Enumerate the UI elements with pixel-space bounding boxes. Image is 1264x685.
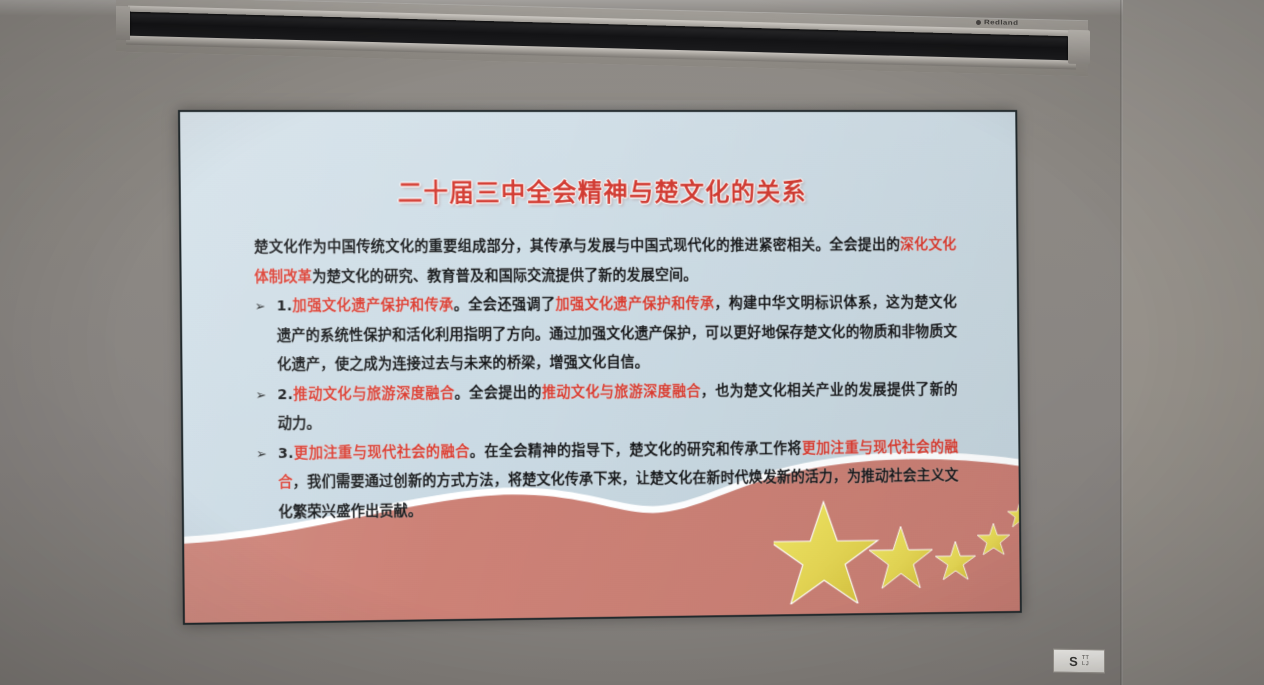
chevron-bullet-icon: ➢: [255, 293, 266, 322]
housing-left-bracket: [116, 6, 130, 40]
sticker-code-line2: LJ: [1082, 660, 1089, 667]
bullet-item-3: ➢3.更加注重与现代社会的融合。在全会精神的指导下，楚文化的研究和传承工作将更加…: [256, 433, 959, 528]
item-2-heading: 推动文化与旅游深度融合: [293, 385, 455, 402]
intro-text-part1: 楚文化作为中国传统文化的重要组成部分，其传承与发展与中国式现代化的推进紧密相关。…: [254, 237, 900, 255]
item-2-body-part1: 。全会提出的: [454, 385, 541, 402]
housing-right-bracket: [1068, 30, 1090, 65]
projector-screen-housing: Redland: [116, 2, 1088, 72]
item-3-body-part1: 。在全会精神的指导下，楚文化的研究和传承工作将: [470, 441, 802, 460]
item-3-heading: 更加注重与现代社会的融合: [294, 444, 470, 462]
star-small-2: [977, 523, 1010, 555]
wall-right-panel: [1123, 0, 1264, 685]
wall-seam-line: [1120, 0, 1123, 685]
wall-label-sticker: S TT LJ: [1053, 649, 1105, 674]
item-2-number: 2.: [277, 387, 293, 403]
bullet-item-1: ➢1.加强文化遗产保护和传承。全会还强调了加强文化遗产保护和传承，构建中华文明标…: [255, 289, 958, 381]
slide-title: 二十届三中全会精神与楚文化的关系: [181, 172, 1017, 209]
brand-dot-icon: [976, 20, 981, 25]
sticker-code: TT LJ: [1082, 655, 1089, 668]
item-1-body-part1: 。全会还强调了: [454, 297, 556, 313]
intro-paragraph: 楚文化作为中国传统文化的重要组成部分，其传承与发展与中国式现代化的推进紧密相关。…: [254, 231, 957, 292]
chevron-bullet-icon: ➢: [256, 440, 267, 470]
item-1-body-highlight: 加强文化遗产保护和传承: [555, 296, 714, 313]
presentation-slide: 二十届三中全会精神与楚文化的关系 楚文化作为中国传统文化的重要组成部分，其传承与…: [178, 110, 1022, 625]
slide-body-content: 楚文化作为中国传统文化的重要组成部分，其传承与发展与中国式现代化的推进紧密相关。…: [254, 231, 959, 528]
sticker-glyph: S: [1069, 654, 1078, 667]
item-1-heading: 加强文化遗产保护和传承: [292, 298, 454, 315]
item-2-body-highlight: 推动文化与旅游深度融合: [542, 383, 701, 400]
item-3-body-part2: ，我们需要通过创新的方式方法，将楚文化传承下来，让楚文化在新时代焕发新的活力，为…: [278, 468, 958, 520]
chevron-bullet-icon: ➢: [255, 381, 266, 411]
item-1-number: 1.: [276, 298, 292, 314]
room-wall-background: Redland S TT LJ: [0, 0, 1264, 685]
housing-brand-label: Redland: [984, 18, 1018, 26]
intro-text-part2: 为楚文化的研究、教育普及和国际交流提供了新的发展空间。: [312, 267, 697, 285]
star-medium-1: [869, 526, 933, 589]
bullet-item-2: ➢2.推动文化与旅游深度融合。全会提出的推动文化与旅游深度融合，也为楚文化相关产…: [255, 376, 958, 440]
item-3-number: 3.: [278, 445, 294, 461]
star-small-3: [1007, 501, 1021, 527]
projected-slide-area: 二十届三中全会精神与楚文化的关系 楚文化作为中国传统文化的重要组成部分，其传承与…: [178, 110, 1022, 625]
star-small-1: [935, 541, 976, 580]
